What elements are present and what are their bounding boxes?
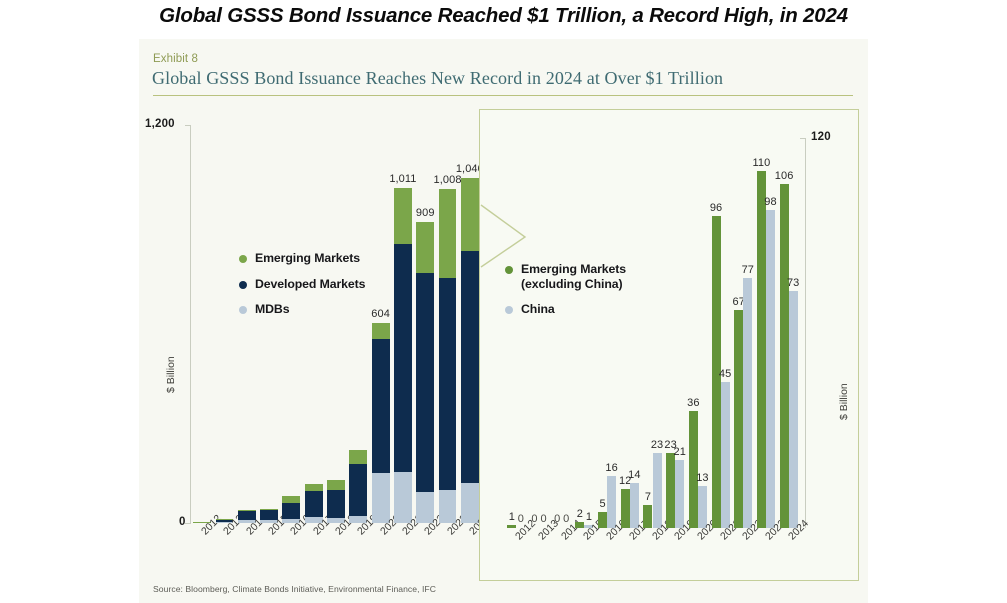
right-bar-china-2021[interactable]: [721, 382, 730, 528]
left-bar-total-label: 1,008: [431, 174, 465, 186]
right-bar-emerging-ex-china-2024[interactable]: [780, 184, 789, 529]
left-bar-2020[interactable]: [372, 323, 390, 523]
left-bar-segment: [372, 473, 390, 523]
right-bar-value-label: 21: [669, 446, 690, 458]
right-bar-value-label: 96: [706, 202, 727, 214]
left-bar-segment: [327, 480, 345, 490]
left-bar-segment: [238, 510, 256, 511]
right-bar-emerging-ex-china-2019[interactable]: [666, 453, 675, 528]
left-bar-total-label: 1,011: [386, 173, 420, 185]
left-bar-total-label: 909: [408, 207, 442, 219]
left-bar-2017[interactable]: [305, 484, 323, 523]
left-bar-segment: [461, 178, 479, 251]
exhibit-card: Exhibit 8 Global GSSS Bond Issuance Reac…: [139, 39, 868, 603]
right-bar-emerging-ex-china-2022[interactable]: [734, 310, 743, 528]
left-bar-2018[interactable]: [327, 480, 345, 523]
left-bar-segment: [372, 339, 390, 473]
exhibit-number: Exhibit 8: [153, 53, 198, 65]
left-bar-segment: [439, 490, 457, 523]
right-bar-china-2024[interactable]: [789, 291, 798, 528]
exhibit-heading: Global GSSS Bond Issuance Reaches New Re…: [152, 68, 723, 89]
left-bar-segment: [416, 273, 434, 492]
left-bar-segment: [439, 189, 457, 278]
left-bar-segment: [416, 222, 434, 273]
right-bar-value-label: 14: [624, 469, 645, 481]
left-bar-segment: [439, 278, 457, 490]
left-bar-2021[interactable]: [394, 188, 412, 523]
left-y-axis-max-label: 1,200: [145, 118, 175, 130]
right-bar-china-2022[interactable]: [743, 278, 752, 528]
left-chart-panel: 1,200 0 $ Billion Emerging MarketsDevelo…: [139, 103, 499, 581]
left-plot-area: 2012201320142015201620172018201960420201…: [191, 125, 481, 523]
right-bar-value-label: 45: [715, 368, 736, 380]
right-chart-panel: 120 $ Billion Emerging Markets(excluding…: [479, 109, 859, 581]
right-bar-china-2019[interactable]: [675, 460, 684, 528]
left-bar-segment: [305, 491, 323, 517]
right-bar-value-label: 36: [683, 397, 704, 409]
right-bar-emerging-ex-china-2016[interactable]: [598, 512, 607, 528]
left-bar-segment: [260, 509, 278, 510]
right-y-axis-title: $ Billion: [838, 383, 850, 420]
right-bar-value-label: 13: [692, 472, 713, 484]
left-bar-segment: [327, 490, 345, 518]
left-bar-segment: [394, 244, 412, 471]
left-y-axis-title: $ Billion: [165, 356, 177, 393]
left-bar-segment: [282, 503, 300, 519]
heading-divider: [153, 95, 853, 96]
right-bar-emerging-ex-china-2012[interactable]: [507, 525, 516, 528]
right-bar-emerging-ex-china-2017[interactable]: [621, 489, 630, 528]
right-y-axis-top-tick: [800, 138, 806, 139]
left-y-axis-zero-label: 0: [179, 516, 185, 528]
right-bar-value-label: 77: [737, 264, 758, 276]
right-plot-area: 1020120020130020142120155162016121420177…: [505, 138, 800, 528]
left-x-tick-2012: 2012: [199, 512, 224, 537]
left-bar-segment: [305, 484, 323, 492]
source-note: Source: Bloomberg, Climate Bonds Initiat…: [153, 584, 436, 594]
right-bar-value-label: 110: [751, 157, 772, 169]
left-bar-segment: [394, 472, 412, 523]
left-y-axis-zero-tick: [185, 523, 191, 524]
page-title: Global GSSS Bond Issuance Reached $1 Tri…: [0, 4, 1007, 28]
left-bar-segment: [461, 483, 479, 523]
right-bar-emerging-ex-china-2020[interactable]: [689, 411, 698, 528]
left-bar-total-label: 604: [364, 308, 398, 320]
left-bar-2022[interactable]: [416, 222, 434, 523]
left-bar-segment: [282, 496, 300, 503]
right-y-axis-spine: [805, 138, 806, 528]
right-bar-china-2018[interactable]: [653, 453, 662, 528]
left-bar-segment: [372, 323, 390, 340]
right-bar-emerging-ex-china-2018[interactable]: [643, 505, 652, 528]
left-bar-2023[interactable]: [439, 189, 457, 523]
left-bar-segment: [461, 251, 479, 483]
left-bar-2019[interactable]: [349, 450, 367, 523]
left-bar-2024[interactable]: [461, 178, 479, 523]
left-bar-segment: [349, 450, 367, 464]
right-y-axis-max-label: 120: [811, 131, 831, 143]
right-bar-value-label: 98: [760, 196, 781, 208]
right-bar-value-label: 16: [601, 462, 622, 474]
right-bar-value-label: 106: [774, 170, 795, 182]
left-bar-segment: [349, 464, 367, 515]
right-bar-china-2023[interactable]: [766, 210, 775, 529]
right-bar-value-label: 73: [783, 277, 804, 289]
right-bar-emerging-ex-china-2023[interactable]: [757, 171, 766, 529]
right-bar-china-2017[interactable]: [630, 483, 639, 529]
